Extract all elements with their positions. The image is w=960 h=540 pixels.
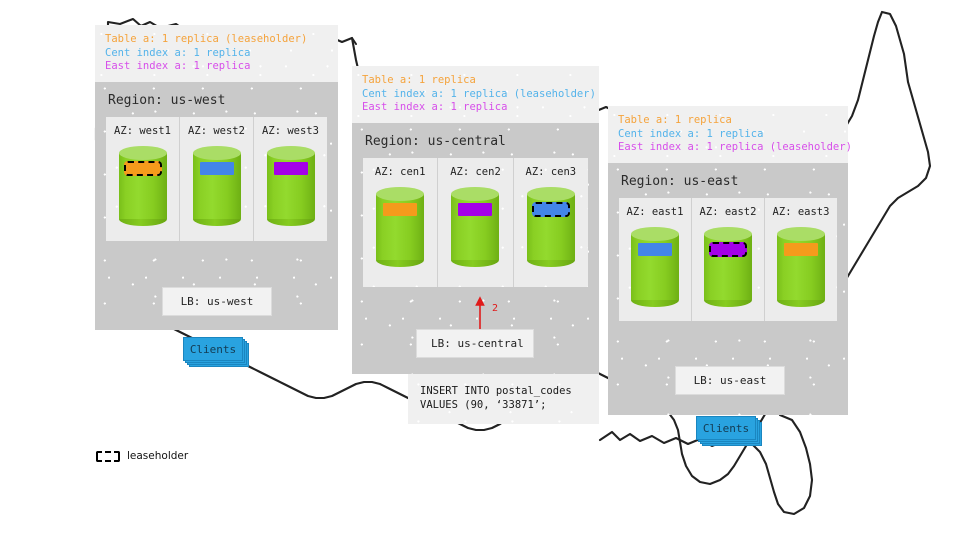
region-title-us-west: Region: us-west — [95, 82, 338, 117]
az-label-west1: AZ: west1 — [106, 125, 179, 137]
region-panel-us-central: Table a: 1 replica Cent index a: 1 repli… — [352, 66, 599, 374]
az-cell-east2[interactable]: AZ: east2 — [692, 198, 765, 321]
replica-bar-leaseholder — [709, 242, 747, 257]
cylinder-top — [376, 187, 424, 201]
cylinder-top — [777, 227, 825, 241]
clients-stack-us-east[interactable]: Clients — [696, 416, 756, 440]
region-body-us-west: Region: us-west AZ: west1 AZ: west2 — [95, 82, 338, 330]
az-label-west2: AZ: west2 — [180, 125, 253, 137]
legend-line-cent-index: Cent index a: 1 replica — [618, 128, 838, 142]
node-cylinder-west3[interactable] — [267, 146, 315, 226]
az-label-east1: AZ: east1 — [619, 206, 691, 218]
az-cell-west1[interactable]: AZ: west1 — [106, 117, 180, 241]
replica-bar — [458, 203, 492, 216]
load-balancer-us-east[interactable]: LB: us-east — [675, 366, 785, 395]
legend-line-table: Table a: 1 replica — [362, 74, 589, 88]
replica-legend-us-west: Table a: 1 replica (leaseholder) Cent in… — [95, 25, 338, 82]
legend-line-east-index: East index a: 1 replica — [362, 101, 589, 115]
node-cylinder-cen2[interactable] — [451, 187, 499, 267]
legend-line-cent-index: Cent index a: 1 replica (leaseholder) — [362, 88, 589, 102]
region-title-us-east: Region: us-east — [608, 163, 848, 198]
region-title-us-central: Region: us-central — [352, 123, 599, 158]
az-cell-cen2[interactable]: AZ: cen2 — [438, 158, 513, 287]
legend-line-east-index: East index a: 1 replica (leaseholder) — [618, 141, 838, 155]
az-cell-east3[interactable]: AZ: east3 — [765, 198, 837, 321]
load-balancer-us-west[interactable]: LB: us-west — [162, 287, 272, 316]
node-cylinder-east1[interactable] — [631, 227, 679, 307]
replica-bar — [784, 243, 818, 256]
cylinder-top — [704, 227, 752, 241]
az-strip-us-east: AZ: east1 AZ: east2 — [619, 198, 837, 321]
legend-line-cent-index: Cent index a: 1 replica — [105, 47, 328, 61]
cylinder-top — [119, 146, 167, 160]
replica-bar — [200, 162, 234, 175]
az-label-cen1: AZ: cen1 — [363, 166, 437, 178]
leaseholder-legend-key: leaseholder — [96, 450, 188, 462]
cylinder-top — [527, 187, 575, 201]
node-cylinder-cen3[interactable] — [527, 187, 575, 267]
node-cylinder-east3[interactable] — [777, 227, 825, 307]
az-label-cen2: AZ: cen2 — [438, 166, 512, 178]
az-cell-cen1[interactable]: AZ: cen1 — [363, 158, 438, 287]
az-strip-us-west: AZ: west1 AZ: west2 — [106, 117, 327, 241]
replica-bar — [383, 203, 417, 216]
az-label-east2: AZ: east2 — [692, 206, 764, 218]
cylinder-top — [267, 146, 315, 160]
load-balancer-us-central[interactable]: LB: us-central — [416, 329, 534, 358]
az-cell-east1[interactable]: AZ: east1 — [619, 198, 692, 321]
clients-stack-us-west[interactable]: Clients — [183, 337, 243, 361]
replica-bar-leaseholder — [532, 202, 570, 217]
replica-bar — [638, 243, 672, 256]
diagram-canvas: Table a: 1 replica (leaseholder) Cent in… — [0, 0, 960, 540]
arrow-step-label: 2 — [492, 303, 498, 314]
az-strip-us-central: AZ: cen1 AZ: cen2 — [363, 158, 588, 287]
region-body-us-central: Region: us-central AZ: cen1 AZ: cen2 — [352, 123, 599, 374]
clients-label[interactable]: Clients — [696, 416, 756, 440]
cylinder-top — [631, 227, 679, 241]
az-cell-west3[interactable]: AZ: west3 — [254, 117, 327, 241]
node-cylinder-west1[interactable] — [119, 146, 167, 226]
replica-bar — [274, 162, 308, 175]
replica-legend-us-east: Table a: 1 replica Cent index a: 1 repli… — [608, 106, 848, 163]
replica-bar-leaseholder — [124, 161, 162, 176]
az-cell-west2[interactable]: AZ: west2 — [180, 117, 254, 241]
legend-line-east-index: East index a: 1 replica — [105, 60, 328, 74]
legend-line-table: Table a: 1 replica (leaseholder) — [105, 33, 328, 47]
leaseholder-legend-label: leaseholder — [127, 450, 188, 462]
clients-label[interactable]: Clients — [183, 337, 243, 361]
az-label-west3: AZ: west3 — [254, 125, 327, 137]
node-cylinder-east2[interactable] — [704, 227, 752, 307]
legend-line-table: Table a: 1 replica — [618, 114, 838, 128]
dashed-rect-icon — [96, 451, 120, 462]
sql-statement: INSERT INTO postal_codes VALUES (90, ‘33… — [408, 374, 599, 424]
az-label-east3: AZ: east3 — [765, 206, 837, 218]
node-cylinder-west2[interactable] — [193, 146, 241, 226]
region-panel-us-east: Table a: 1 replica Cent index a: 1 repli… — [608, 106, 848, 415]
cylinder-top — [193, 146, 241, 160]
az-label-cen3: AZ: cen3 — [514, 166, 588, 178]
replica-legend-us-central: Table a: 1 replica Cent index a: 1 repli… — [352, 66, 599, 123]
az-cell-cen3[interactable]: AZ: cen3 — [514, 158, 588, 287]
region-body-us-east: Region: us-east AZ: east1 AZ: east2 — [608, 163, 848, 415]
node-cylinder-cen1[interactable] — [376, 187, 424, 267]
region-panel-us-west: Table a: 1 replica (leaseholder) Cent in… — [95, 25, 338, 330]
